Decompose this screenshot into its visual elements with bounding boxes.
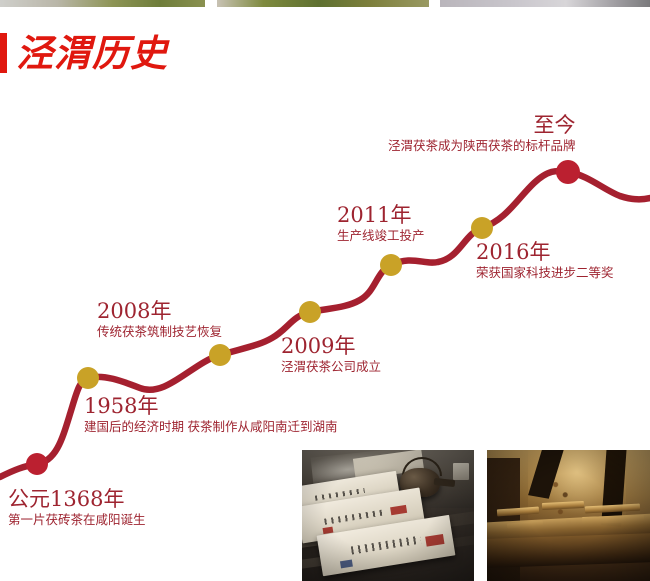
timeline-node-dot[interactable] <box>556 160 580 184</box>
timeline-label-node-1368: 公元1368年第一片茯砖茶在咸阳诞生 <box>8 487 146 529</box>
timeline-node-dot[interactable] <box>380 254 402 276</box>
timeline-description: 生产线竣工投产 <box>337 228 425 245</box>
timeline-description: 泾渭茯茶公司成立 <box>281 359 381 376</box>
timeline-label-node-2016: 2016年荣获国家科技进步二等奖 <box>476 240 614 282</box>
page-title-text: 泾渭历史 <box>16 33 168 73</box>
timeline-year: 公元1368年 <box>8 487 146 512</box>
timeline-year: 2008年 <box>97 299 222 324</box>
photo-workshop[interactable] <box>487 450 650 581</box>
strip-gap-2 <box>429 0 440 7</box>
strip-segment-center <box>217 0 429 7</box>
strip-segment-right <box>440 0 650 7</box>
timeline-label-node-2009: 2009年泾渭茯茶公司成立 <box>281 334 381 376</box>
timeline-year: 2016年 <box>476 240 614 265</box>
photo-vignette <box>302 450 474 581</box>
timeline-node-dot[interactable] <box>471 217 493 239</box>
timeline-description: 传统茯茶筑制技艺恢复 <box>97 324 222 341</box>
timeline-node-dot[interactable] <box>299 301 321 323</box>
photo-strip-above <box>0 0 650 7</box>
timeline-description: 第一片茯砖茶在咸阳诞生 <box>8 512 146 529</box>
timeline-node-dot[interactable] <box>77 367 99 389</box>
timeline-label-node-now: 至今泾渭茯茶成为陕西茯茶的标杆品牌 <box>388 113 576 155</box>
timeline-description: 荣获国家科技进步二等奖 <box>476 265 614 282</box>
page-title: 泾渭历史 <box>0 33 168 73</box>
timeline-description: 泾渭茯茶成为陕西茯茶的标杆品牌 <box>388 138 576 155</box>
strip-gap-1 <box>205 0 217 7</box>
timeline-year: 至今 <box>388 113 576 138</box>
photo-vignette <box>487 450 650 581</box>
timeline-label-node-2011: 2011年生产线竣工投产 <box>337 203 425 245</box>
timeline-year: 2009年 <box>281 334 381 359</box>
history-timeline-page: 泾渭历史 公元1368年第一片茯砖茶在咸阳诞生1958年建国后的经济时期 茯茶制… <box>0 0 650 581</box>
timeline-node-dot[interactable] <box>209 344 231 366</box>
timeline-label-node-1958: 1958年建国后的经济时期 茯茶制作从咸阳南迁到湖南 <box>84 394 337 436</box>
title-accent-bar <box>0 33 7 73</box>
timeline-description: 建国后的经济时期 茯茶制作从咸阳南迁到湖南 <box>84 419 337 436</box>
timeline-year: 1958年 <box>84 394 337 419</box>
strip-segment-left <box>0 0 205 7</box>
timeline-label-node-2008: 2008年传统茯茶筑制技艺恢复 <box>97 299 222 341</box>
timeline-node-dot[interactable] <box>26 453 48 475</box>
timeline-year: 2011年 <box>337 203 425 228</box>
photo-tea-bricks[interactable] <box>302 450 474 581</box>
